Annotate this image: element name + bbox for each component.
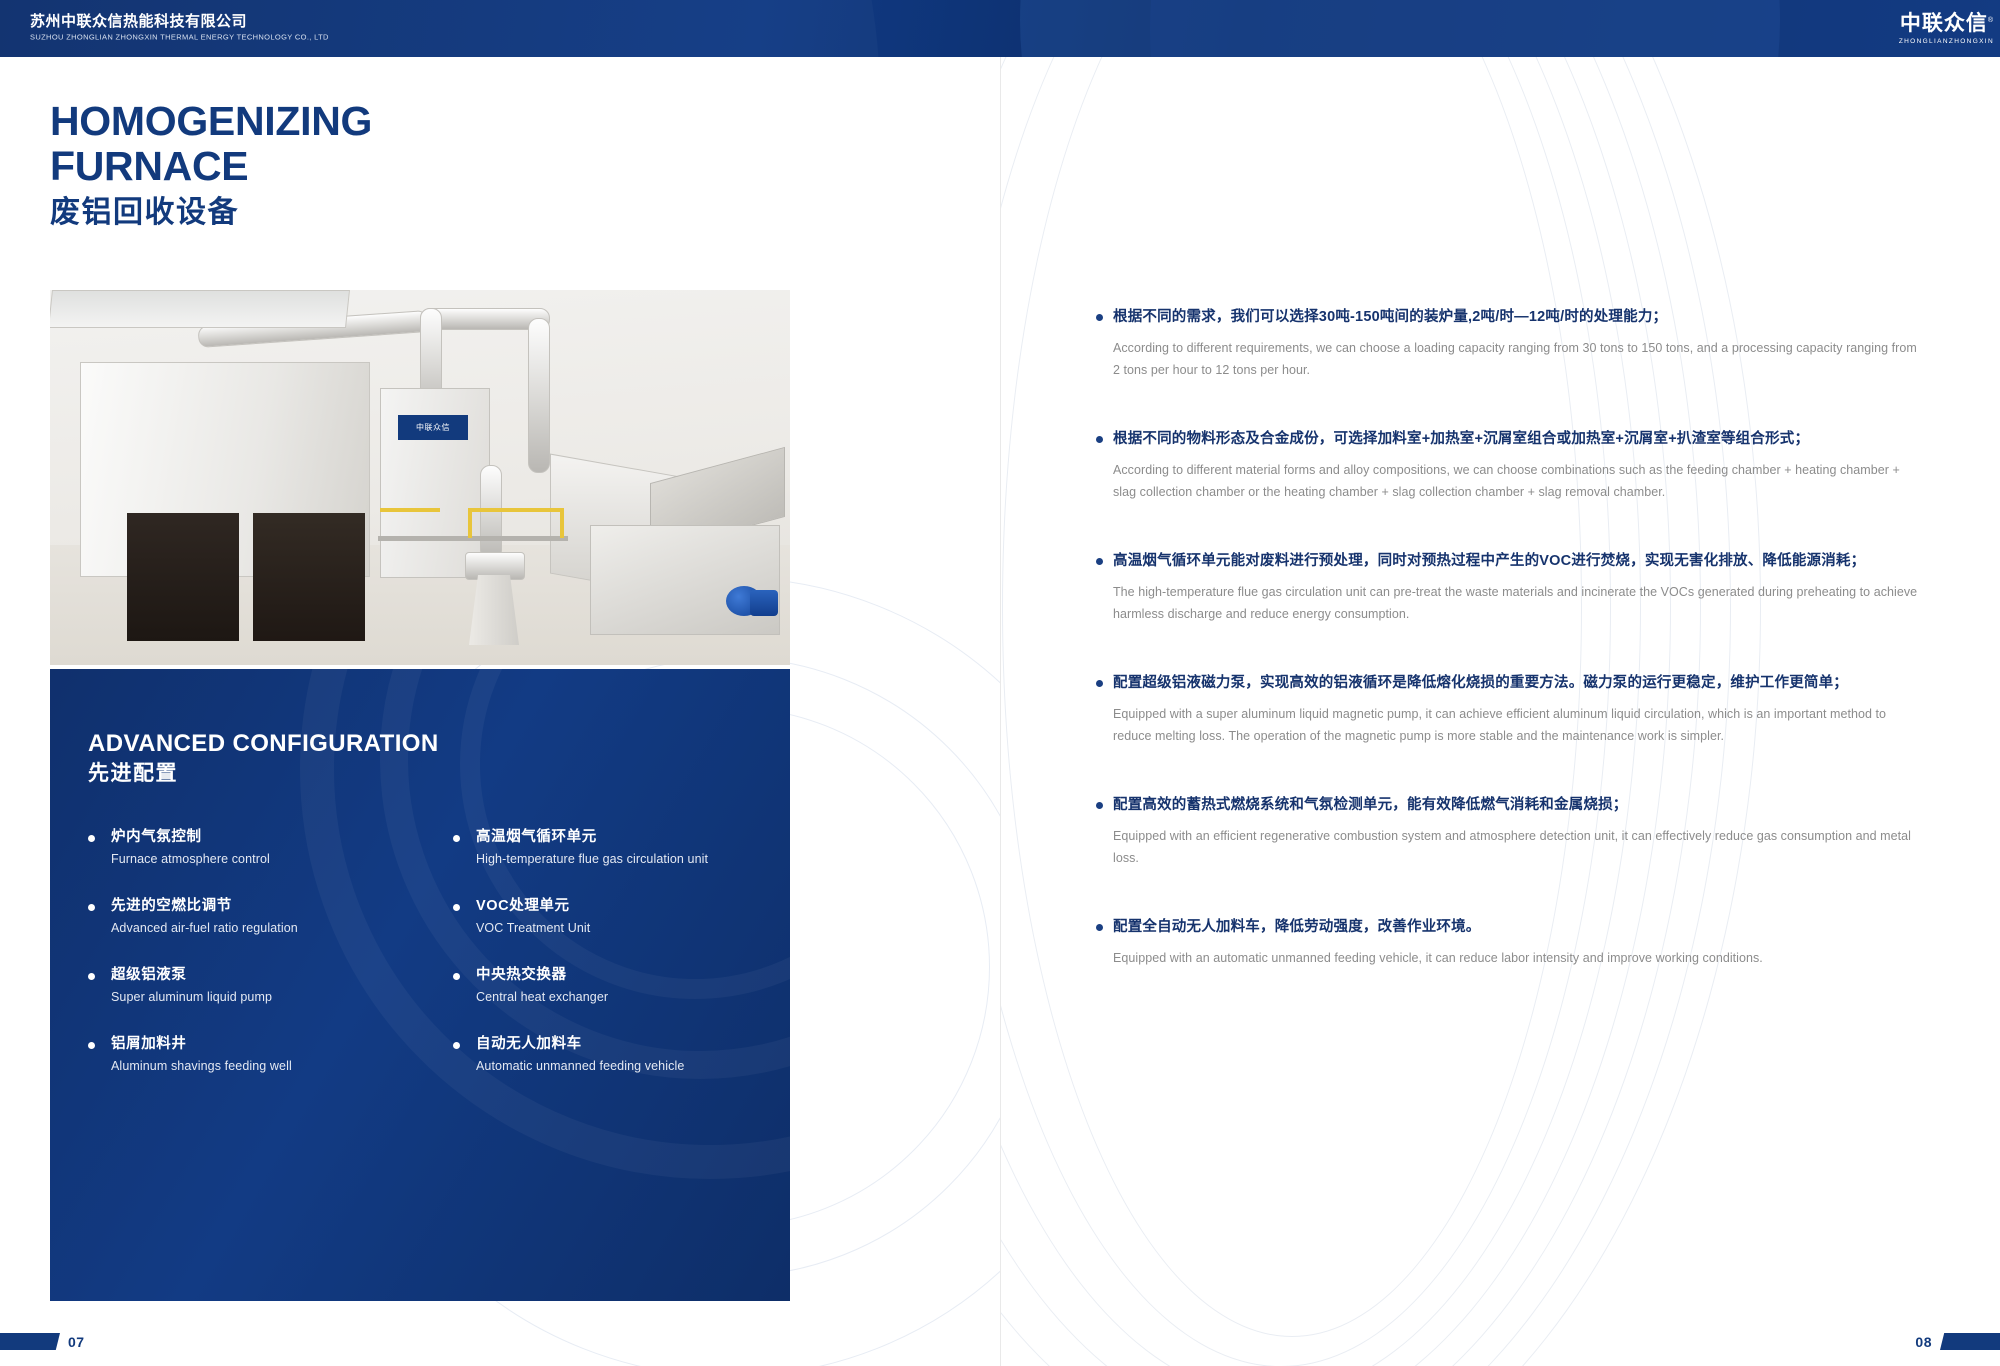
page-number-left: 07 [0, 1333, 85, 1350]
header-arc-decoration-2 [1150, 0, 2000, 57]
company-identity: 苏州中联众信热能科技有限公司 SUZHOU ZHONGLIAN ZHONGXIN… [30, 12, 329, 43]
config-item-en: VOC Treatment Unit [476, 919, 758, 937]
feature-bullet: 根据不同的需求，我们可以选择30吨-150吨间的装炉量,2吨/时—12吨/时的处… [1096, 305, 1926, 381]
title-en-line1: HOMOGENIZING [50, 99, 372, 144]
config-column-left: 炉内气氛控制 Furnace atmosphere control 先进的空燃比… [88, 827, 393, 1103]
photo-railing-side [380, 508, 440, 512]
left-page: HOMOGENIZING FURNACE 废铝回收设备 [0, 57, 1000, 1366]
photo-platform [378, 536, 568, 541]
config-item-cn: 铝屑加料井 [111, 1034, 393, 1054]
config-item-en: Furnace atmosphere control [111, 850, 393, 868]
photo-railing-post-left [468, 508, 472, 538]
bullet-dot-icon [88, 1042, 95, 1049]
config-item: 中央热交换器 Central heat exchanger [453, 965, 758, 1006]
bullet-dot-icon [453, 904, 460, 911]
config-item-cn: 中央热交换器 [476, 965, 758, 985]
feature-bullet: 配置高效的蓄热式燃烧系统和气氛检测单元，能有效降低燃气消耗和金属烧损； Equi… [1096, 793, 1926, 869]
product-photo: 中联众信 [50, 290, 790, 665]
config-item-en: Automatic unmanned feeding vehicle [476, 1057, 758, 1075]
feature-bullet-cn: 高温烟气循环单元能对废料进行预处理，同时对预热过程中产生的VOC进行焚烧，实现无… [1113, 549, 1926, 574]
feature-bullet-list: 根据不同的需求，我们可以选择30吨-150吨间的装炉量,2吨/时—12吨/时的处… [1096, 305, 1926, 1015]
config-item: 高温烟气循环单元 High-temperature flue gas circu… [453, 827, 758, 868]
feature-bullet-en: Equipped with an efficient regenerative … [1113, 825, 1926, 869]
advanced-configuration-panel: ADVANCED CONFIGURATION 先进配置 炉内气氛控制 Furna… [50, 669, 790, 1301]
title-cn: 废铝回收设备 [50, 193, 372, 233]
brochure-spread: 苏州中联众信热能科技有限公司 SUZHOU ZHONGLIAN ZHONGXIN… [0, 0, 2000, 1366]
feature-bullet: 根据不同的物料形态及合金成份，可选择加料室+加热室+沉屑室组合或加热室+沉屑室+… [1096, 427, 1926, 503]
bullet-dot-icon [1096, 436, 1103, 443]
config-heading-en: ADVANCED CONFIGURATION [88, 729, 439, 759]
config-item-cn: 炉内气氛控制 [111, 827, 393, 847]
bullet-dot-icon [88, 904, 95, 911]
brand-logo: 中联众信® ZHONGLIANZHONGXIN [1899, 9, 1994, 47]
config-item-en: Central heat exchanger [476, 988, 758, 1006]
logo-wordmark-cn: 中联众信® [1899, 9, 1994, 35]
bullet-dot-icon [1096, 558, 1103, 565]
photo-railing-post-right [560, 508, 564, 538]
photo-brand-plate: 中联众信 [398, 415, 468, 440]
page-number-left-value: 07 [68, 1334, 85, 1350]
page-number-right-value: 08 [1915, 1334, 1932, 1350]
feature-bullet-en: According to different requirements, we … [1113, 337, 1926, 381]
feature-bullet-en: Equipped with a super aluminum liquid ma… [1113, 703, 1926, 747]
photo-furnace-body [80, 362, 370, 577]
photo-auxiliary-unit [590, 525, 780, 635]
bullet-dot-icon [88, 835, 95, 842]
photo-roof [50, 290, 350, 328]
logo-wordmark-en: ZHONGLIANZHONGXIN [1899, 37, 1994, 47]
page-number-right: 08 [1915, 1333, 2000, 1350]
bullet-dot-icon [1096, 314, 1103, 321]
bullet-dot-icon [1096, 924, 1103, 931]
config-item-cn: VOC处理单元 [476, 896, 758, 916]
page-header: 苏州中联众信热能科技有限公司 SUZHOU ZHONGLIAN ZHONGXIN… [0, 0, 2000, 57]
config-item: 铝屑加料井 Aluminum shavings feeding well [88, 1034, 393, 1075]
photo-railing-top [468, 508, 564, 512]
feature-bullet-cn: 根据不同的物料形态及合金成份，可选择加料室+加热室+沉屑室组合或加热室+沉屑室+… [1113, 427, 1926, 452]
page-number-tab-icon [1940, 1333, 2000, 1350]
photo-pipe-downcomer [480, 465, 502, 560]
feature-bullet-en: The high-temperature flue gas circulatio… [1113, 581, 1926, 625]
photo-pipe-vertical-right [528, 318, 550, 473]
registered-trademark-icon: ® [1988, 17, 1994, 24]
config-columns: 炉内气氛控制 Furnace atmosphere control 先进的空燃比… [88, 827, 758, 1103]
bullet-dot-icon [88, 973, 95, 980]
bullet-dot-icon [453, 973, 460, 980]
config-item-en: Super aluminum liquid pump [111, 988, 393, 1006]
logo-text: 中联众信 [1900, 12, 1988, 35]
config-item: 超级铝液泵 Super aluminum liquid pump [88, 965, 393, 1006]
config-item: 先进的空燃比调节 Advanced air-fuel ratio regulat… [88, 896, 393, 937]
config-item: 炉内气氛控制 Furnace atmosphere control [88, 827, 393, 868]
bullet-dot-icon [453, 1042, 460, 1049]
photo-blue-pump [750, 590, 778, 616]
feature-bullet-cn: 配置全自动无人加料车，降低劳动强度，改善作业环境。 [1113, 915, 1926, 940]
feature-bullet-en: According to different material forms an… [1113, 459, 1926, 503]
company-name-cn: 苏州中联众信热能科技有限公司 [30, 12, 329, 31]
config-item: 自动无人加料车 Automatic unmanned feeding vehic… [453, 1034, 758, 1075]
config-heading-cn: 先进配置 [88, 759, 439, 789]
feature-bullet-cn: 根据不同的需求，我们可以选择30吨-150吨间的装炉量,2吨/时—12吨/时的处… [1113, 305, 1926, 330]
config-item-en: Aluminum shavings feeding well [111, 1057, 393, 1075]
feature-bullet: 配置超级铝液磁力泵，实现高效的铝液循环是降低熔化烧损的重要方法。磁力泵的运行更稳… [1096, 671, 1926, 747]
config-item-cn: 超级铝液泵 [111, 965, 393, 985]
feature-bullet-cn: 配置高效的蓄热式燃烧系统和气氛检测单元，能有效降低燃气消耗和金属烧损； [1113, 793, 1926, 818]
photo-furnace-opening-1 [127, 513, 239, 641]
photo-furnace-opening-2 [253, 513, 365, 641]
config-item: VOC处理单元 VOC Treatment Unit [453, 896, 758, 937]
company-name-en: SUZHOU ZHONGLIAN ZHONGXIN THERMAL ENERGY… [30, 32, 329, 42]
bullet-dot-icon [1096, 680, 1103, 687]
feature-bullet-en: Equipped with an automatic unmanned feed… [1113, 947, 1926, 969]
config-item-en: Advanced air-fuel ratio regulation [111, 919, 393, 937]
bullet-dot-icon [1096, 802, 1103, 809]
right-page: 根据不同的需求，我们可以选择30吨-150吨间的装炉量,2吨/时—12吨/时的处… [1001, 57, 2000, 1366]
title-en-line2: FURNACE [50, 144, 372, 189]
config-heading: ADVANCED CONFIGURATION 先进配置 [88, 729, 439, 789]
feature-bullet: 高温烟气循环单元能对废料进行预处理，同时对预热过程中产生的VOC进行焚烧，实现无… [1096, 549, 1926, 625]
config-item-cn: 高温烟气循环单元 [476, 827, 758, 847]
config-item-cn: 先进的空燃比调节 [111, 896, 393, 916]
feature-bullet: 配置全自动无人加料车，降低劳动强度，改善作业环境。 Equipped with … [1096, 915, 1926, 969]
config-column-right: 高温烟气循环单元 High-temperature flue gas circu… [453, 827, 758, 1103]
config-item-cn: 自动无人加料车 [476, 1034, 758, 1054]
page-number-tab-icon [0, 1333, 60, 1350]
config-item-en: High-temperature flue gas circulation un… [476, 850, 758, 868]
page-title: HOMOGENIZING FURNACE 废铝回收设备 [50, 99, 372, 233]
bullet-dot-icon [453, 835, 460, 842]
feature-bullet-cn: 配置超级铝液磁力泵，实现高效的铝液循环是降低熔化烧损的重要方法。磁力泵的运行更稳… [1113, 671, 1926, 696]
